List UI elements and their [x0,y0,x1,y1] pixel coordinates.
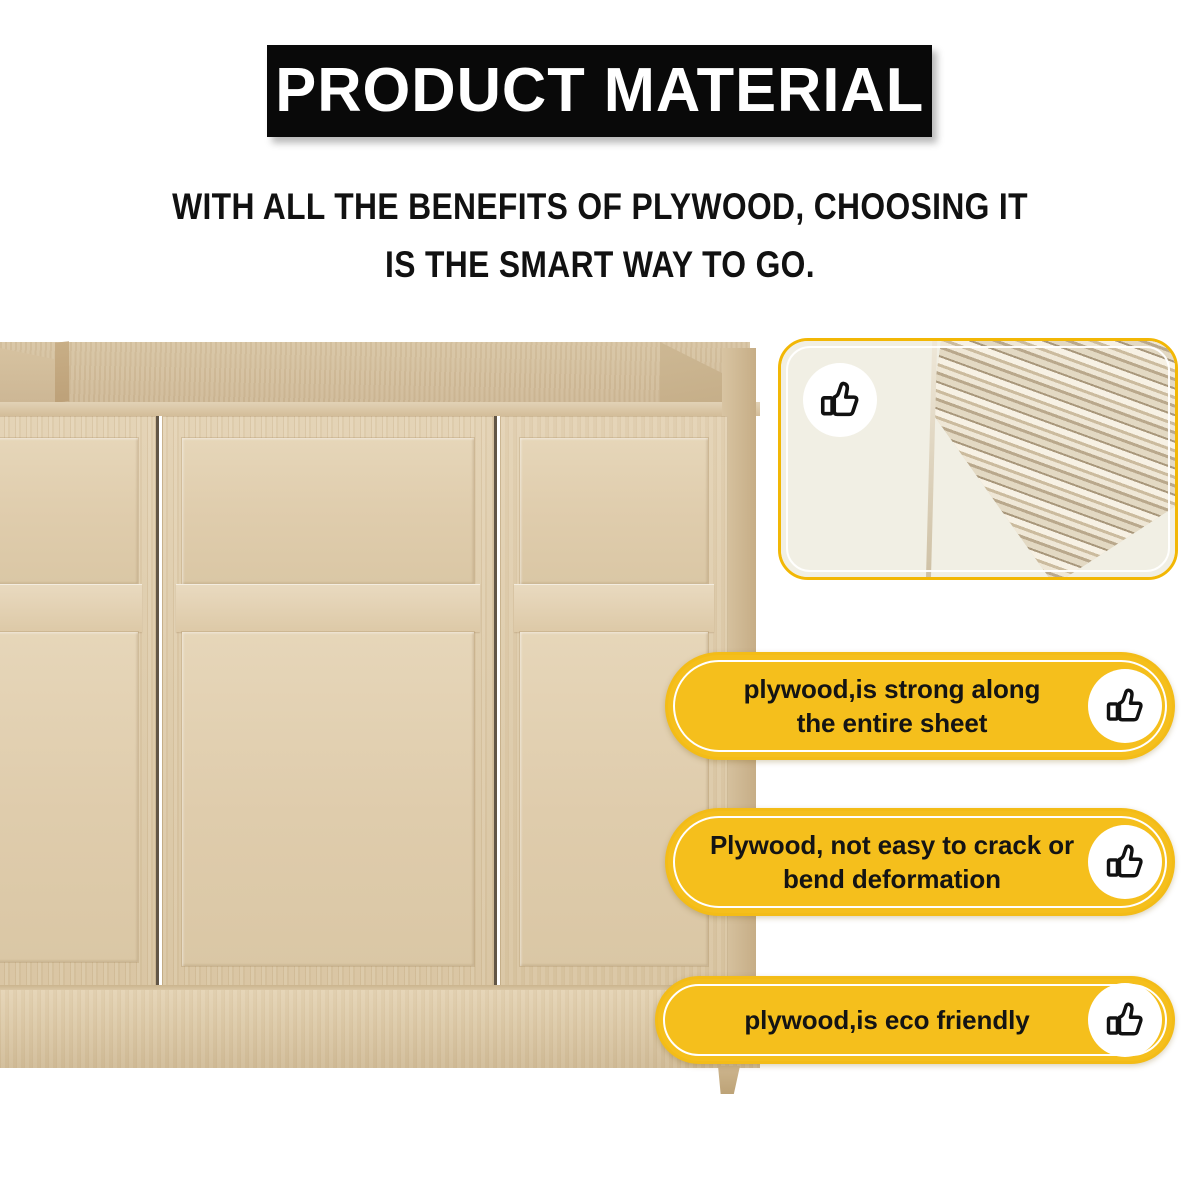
page-title: PRODUCT MATERIAL [275,60,924,122]
door-upper-panel [0,438,138,584]
benefit-badge-1[interactable]: plywood,is strong along the entire sheet [665,652,1175,760]
thumbs-up-icon [1088,983,1162,1057]
benefit-badge-2-text: Plywood, not easy to crack or bend defor… [668,828,1088,896]
page-subtitle-line-2: IS THE SMART WAY TO GO. [170,236,1030,294]
cabinet-door-row [0,416,728,990]
cabinet-door-left [0,416,156,990]
door-lower-panel [0,632,138,962]
door-mid-rail [176,584,480,632]
cabinet-toe-kick [0,990,760,1068]
plywood-closeup-inset [778,338,1178,580]
benefit-badge-1-text: plywood,is strong along the entire sheet [668,672,1088,740]
benefit-badge-1-line-2: the entire sheet [797,708,988,738]
thumbs-up-icon [1088,825,1162,899]
product-material-infographic: PRODUCT MATERIAL WITH ALL THE BENEFITS O… [0,0,1200,1200]
benefit-badge-3-line-1: plywood,is eco friendly [744,1005,1029,1035]
thumbs-up-icon [803,363,877,437]
door-lower-panel [182,632,474,966]
benefit-badge-3-text: plywood,is eco friendly [658,1003,1088,1037]
page-subtitle: WITH ALL THE BENEFITS OF PLYWOOD, CHOOSI… [100,178,1100,294]
door-mid-rail [0,584,142,632]
page-title-banner: PRODUCT MATERIAL [267,45,932,137]
cabinet-leg [718,1066,740,1094]
door-upper-panel [182,438,474,584]
door-upper-panel [520,438,708,584]
cabinet-vertical-divider [55,341,69,402]
door-gap-2 [494,416,497,990]
wood-grain-texture [0,990,760,1068]
benefit-badge-3[interactable]: plywood,is eco friendly [655,976,1175,1064]
benefit-badge-2-line-1: Plywood, not easy to crack or [710,830,1074,860]
thumbs-up-icon [1088,669,1162,743]
benefit-badge-2-line-2: bend deformation [783,864,1001,894]
door-gap-1 [156,416,159,990]
benefit-badge-2[interactable]: Plywood, not easy to crack or bend defor… [665,808,1175,916]
benefit-badge-1-line-1: plywood,is strong along [744,674,1041,704]
page-subtitle-line-1: WITH ALL THE BENEFITS OF PLYWOOD, CHOOSI… [170,178,1030,236]
door-mid-rail [514,584,714,632]
cabinet-top-rim [0,402,760,416]
cabinet-door-center [162,416,494,990]
